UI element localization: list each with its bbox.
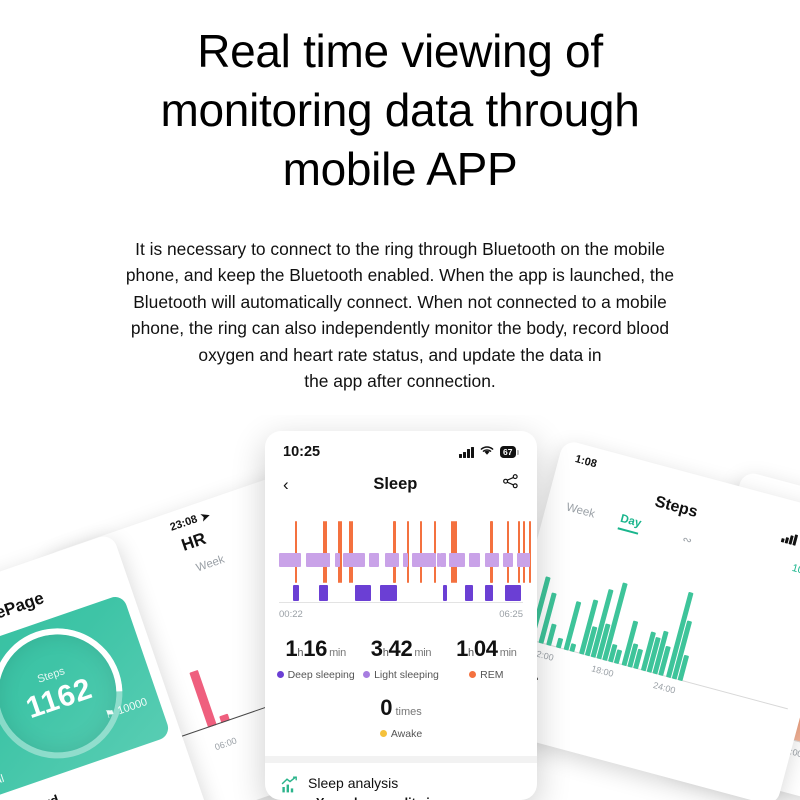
light-sleep-label: Light sleeping [374,669,439,681]
rem-spike [351,521,353,583]
deep-sleep-block [505,585,521,601]
body-line-1: It is necessary to connect to the ring t… [40,236,760,262]
sleep-stats-row: 1h16min Deep sleeping 3h42min Light slee… [273,636,529,681]
steps-progress-ring: Steps 1162 [0,611,140,776]
rem-spike [340,521,342,583]
light-sleep-block [517,553,530,567]
light-minutes-unit: min [414,647,431,659]
sleep-analysis-title: Sleep analysis [308,775,491,791]
rem-hours: 1 [456,636,468,661]
calories-readout: 🔥 47 kcal [0,772,6,800]
deep-sleep-block [293,585,299,601]
steps-bar [556,638,563,649]
rem-spike [529,521,531,583]
deep-sleep-block [380,585,397,601]
rem-spike [407,521,409,583]
light-hours: 3 [371,636,383,661]
sleep-chart-time-axis: 00:22 06:25 [279,609,523,620]
sleep-screen-card: 10:25 67 ‹ Sleep [265,431,537,800]
light-sleep-block [440,553,446,567]
rem-spike [420,521,422,583]
awake-label: Awake [391,728,422,740]
body-line-2: phone, and keep the Bluetooth enabled. W… [40,262,760,288]
awake-value: 0 [380,695,392,720]
body-line-6: the app after connection. [40,368,760,394]
rem-spike [491,521,493,583]
hypnogram-baseline [279,602,523,603]
light-sleep-block [335,553,340,567]
page-title: Real time viewing of monitoring data thr… [60,22,740,199]
share-icon[interactable] [502,473,519,495]
deep-hours: 1 [285,636,297,661]
body-line-5: oxygen and heart rate status, and update… [40,342,760,368]
light-sleep-duration: 3h42min [358,636,443,662]
share-icon[interactable]: ∾ [681,531,694,547]
sleep-analysis-section[interactable]: Sleep analysis Your sleep quality is ave… [265,763,537,800]
headline-line-1: Real time viewing of [60,22,740,81]
cellular-signal-icon [459,447,474,458]
stat-light-sleeping: 3h42min Light sleeping [358,636,443,681]
deep-sleep-block [465,585,473,601]
headline-line-3: mobile APP [60,140,740,199]
deep-sleep-block [485,585,493,601]
stat-awake: 0times Awake [265,695,537,740]
tab-week[interactable]: Week [195,554,227,575]
steps-date[interactable]: 10/23 [791,561,800,579]
deep-sleep-dot [277,671,284,678]
sleep-nav-bar: ‹ Sleep [265,461,537,495]
light-sleep-block [323,553,330,567]
light-minutes: 42 [389,636,413,661]
rem-label: REM [480,669,503,681]
light-sleep-block [369,553,379,567]
steps-x-tick-1: 18:00 [590,663,614,678]
steps-ring-label: Steps [0,651,109,701]
rem-minutes: 04 [474,636,498,661]
section-divider [265,756,537,763]
tab-day[interactable]: Day [618,513,643,535]
sleep-status-time: 10:25 [283,444,320,460]
light-sleep-legend: Light sleeping [358,669,443,681]
steps-x-tick-2: 24:00 [652,680,676,695]
light-sleep-block [412,553,436,567]
awake-count: 0times [265,695,537,721]
deep-sleep-block [319,585,328,601]
rem-duration: 1h04min [444,636,529,662]
rem-spike [523,521,525,583]
awake-unit: times [395,706,421,718]
light-sleep-block [449,553,465,567]
rem-minutes-unit: min [500,647,517,659]
steps-ring-value: 1162 [0,664,121,735]
deep-sleep-duration: 1h16min [273,636,358,662]
light-sleep-block [437,553,440,567]
leaderboard-label: Leaderboard [0,791,61,800]
deep-sleep-legend: Deep sleeping [273,669,358,681]
cellular-signal-icon [781,531,798,545]
sleep-end-time: 06:25 [499,609,523,620]
body-line-3: Bluetooth will automatically connect. Wh… [40,289,760,315]
rem-legend: REM [444,669,529,681]
light-sleep-block [503,553,513,567]
sleep-title: Sleep [289,475,502,494]
light-sleep-block [393,553,399,567]
headline-line-2: monitoring data through [60,81,740,140]
awake-legend: Awake [265,728,537,740]
rem-spike [394,521,396,583]
deep-sleep-label: Deep sleeping [288,669,355,681]
rem-spike [434,521,436,583]
sleep-start-time: 00:22 [279,609,303,620]
phone-screenshots-collage: 23:08 ➤ ‹ Sp Month Week 06:00 12:00 1:08… [0,415,800,800]
stat-rem: 1h04min REM [444,636,529,681]
calories-value: 47 kcal [0,773,6,796]
light-sleep-block [403,553,408,567]
sleep-status-icons: 67 [459,443,519,461]
light-sleep-block [279,553,301,567]
awake-dot [380,730,387,737]
tab-week[interactable]: Week [565,501,596,520]
rem-spike [455,521,457,583]
deep-minutes-unit: min [329,647,346,659]
rem-dot [469,671,476,678]
light-sleep-block [469,553,480,567]
body-line-4: phone, the ring can also independently m… [40,315,760,341]
sleep-battery-level: 67 [500,446,516,459]
sleep-analysis-detail: Your sleep quality is average. [316,796,491,800]
light-sleep-dot [363,671,370,678]
chart-analysis-icon [281,776,299,794]
deep-minutes: 16 [303,636,327,661]
rem-spike [518,521,520,583]
rem-spike [295,521,297,583]
deep-sleep-block [355,585,371,601]
hr-bar [189,670,216,728]
rem-spike [507,521,509,583]
description-paragraph: It is necessary to connect to the ring t… [40,236,760,395]
wifi-icon [480,443,494,461]
light-sleep-block [485,553,499,567]
sleep-hypnogram-chart [279,517,523,603]
stat-deep-sleeping: 1h16min Deep sleeping [273,636,358,681]
deep-sleep-block [443,585,447,601]
sleep-status-bar: 10:25 67 [265,431,537,461]
hr-x-tick-1: 06:00 [213,735,238,752]
battery-icon: 67 [500,446,519,459]
rem-spike [325,521,327,583]
light-sleep-block [343,553,365,567]
